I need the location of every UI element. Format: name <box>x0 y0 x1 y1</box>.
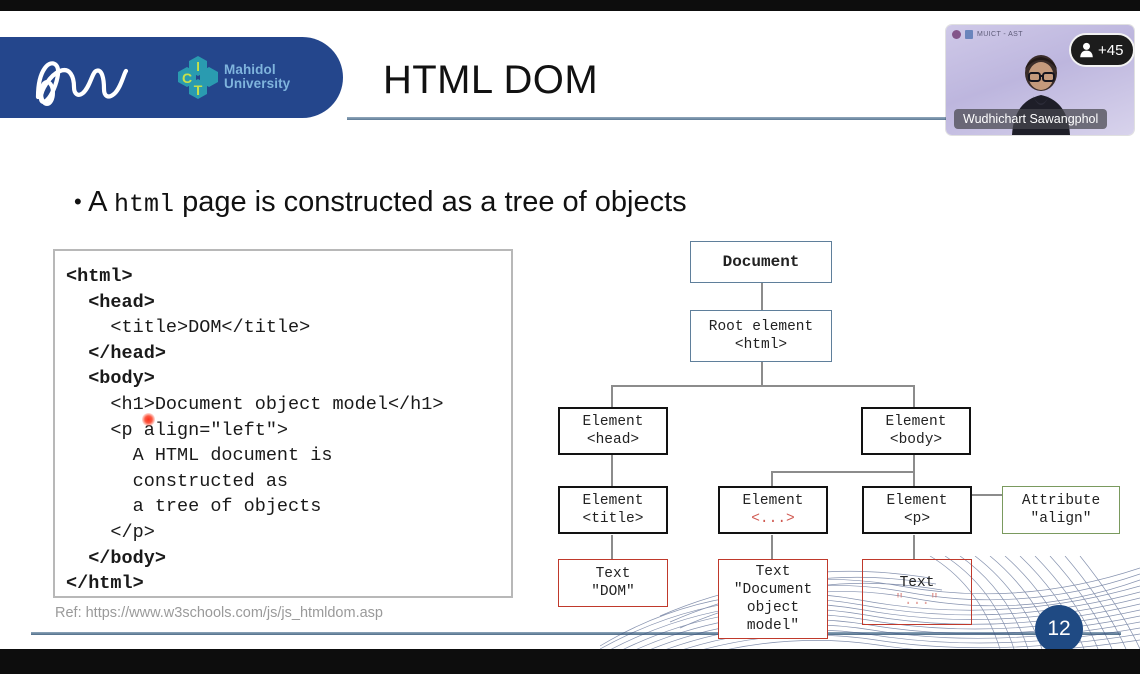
participant-count-label: +45 <box>1098 42 1123 59</box>
tree-node-dots: Element <...> <box>718 486 828 534</box>
tree-node-head-line1: Element <box>583 413 644 431</box>
code-sample-box: <html> <head> <title>DOM</title> </head>… <box>53 249 513 598</box>
ict-logo-icon: I C T <box>176 55 224 103</box>
tree-node-text-docmodel-line2: "Document object model" <box>734 581 812 635</box>
tree-node-text-dom: Text "DOM" <box>558 559 668 607</box>
tree-connector <box>611 455 613 486</box>
tree-node-dots-line2: <...> <box>751 510 795 528</box>
person-icon <box>1079 42 1094 58</box>
tree-node-dots-line1: Element <box>743 492 804 510</box>
mu-logo <box>28 49 178 109</box>
watermark-ict-icon <box>965 30 973 39</box>
video-watermark: MUICT - AST <box>952 30 1023 39</box>
brand-band: I C T Mahidol University <box>0 37 343 118</box>
tree-node-text-p-line1: Text <box>900 574 935 592</box>
tree-node-attribute-line2: "align" <box>1031 510 1092 528</box>
tree-node-body-line1: Element <box>886 413 947 431</box>
tree-node-p-line1: Element <box>887 492 948 510</box>
letterbox-top <box>0 0 1140 11</box>
letterbox-bottom <box>0 649 1140 674</box>
tree-node-root: Root element <html> <box>690 310 832 362</box>
video-watermark-label: MUICT - AST <box>977 31 1023 38</box>
tree-node-head: Element <head> <box>558 407 668 455</box>
source-reference: Ref: https://www.w3schools.com/js/js_htm… <box>55 605 383 621</box>
tree-node-head-line2: <head> <box>587 431 639 449</box>
tree-node-root-line2: <html> <box>735 336 787 354</box>
tree-node-text-dom-line2: "DOM" <box>591 583 635 601</box>
tree-node-text-docmodel-line1: Text <box>756 563 791 581</box>
bullet-code-word: html <box>114 190 174 219</box>
tree-node-text-docmodel: Text "Document object model" <box>718 559 828 639</box>
tree-node-body-line2: <body> <box>890 431 942 449</box>
bullet-text-after: page is constructed as a tree of objects <box>182 186 687 218</box>
tree-node-body: Element <body> <box>861 407 971 455</box>
tree-node-p: Element <p> <box>862 486 972 534</box>
university-name-line1: Mahidol <box>224 63 290 77</box>
tree-connector <box>913 385 915 407</box>
bullet-line: • A html page is constructed as a tree o… <box>74 183 687 224</box>
tree-node-document: Document <box>690 241 832 283</box>
svg-text:T: T <box>194 82 203 98</box>
tree-connector <box>913 455 915 471</box>
participant-count-badge[interactable]: +45 <box>1069 33 1135 67</box>
tree-connector <box>611 385 913 387</box>
tree-node-title-line2: <title> <box>583 510 644 528</box>
tree-connector <box>771 471 773 486</box>
speaker-name-label: Wudhichart Sawangphol <box>954 109 1107 129</box>
bullet-text-before: A <box>88 186 106 218</box>
university-name: Mahidol University <box>224 63 290 90</box>
laser-pointer-dot <box>142 413 155 426</box>
tree-connector <box>761 282 763 310</box>
tree-connector <box>611 385 613 407</box>
tree-node-root-line1: Root element <box>709 318 813 336</box>
page-title: HTML DOM <box>383 58 598 103</box>
bullet-marker: • <box>74 189 82 214</box>
university-name-line2: University <box>224 77 290 91</box>
tree-node-title-line1: Element <box>583 492 644 510</box>
svg-text:I: I <box>196 59 200 74</box>
tree-node-document-line1: Document <box>723 253 800 271</box>
tree-node-attribute: Attribute "align" <box>1002 486 1120 534</box>
tree-node-text-p: Text "..." <box>862 559 972 625</box>
tree-node-attribute-line1: Attribute <box>1022 492 1100 510</box>
tree-connector <box>913 471 915 486</box>
watermark-dot-icon <box>952 30 961 39</box>
tree-node-text-p-line2: "..." <box>895 592 939 610</box>
svg-text:C: C <box>182 70 192 86</box>
tree-node-title: Element <title> <box>558 486 668 534</box>
code-sample-text: <html> <head> <title>DOM</title> </head>… <box>55 251 511 597</box>
tree-node-text-dom-line1: Text <box>596 565 631 583</box>
tree-connector <box>972 494 1002 496</box>
tree-connector <box>761 361 763 385</box>
page-number-badge: 12 <box>1035 605 1083 649</box>
tree-connector <box>771 471 914 473</box>
tree-node-p-line2: <p> <box>904 510 930 528</box>
slide-canvas: I C T Mahidol University HTML DOM • A ht… <box>0 11 1140 649</box>
